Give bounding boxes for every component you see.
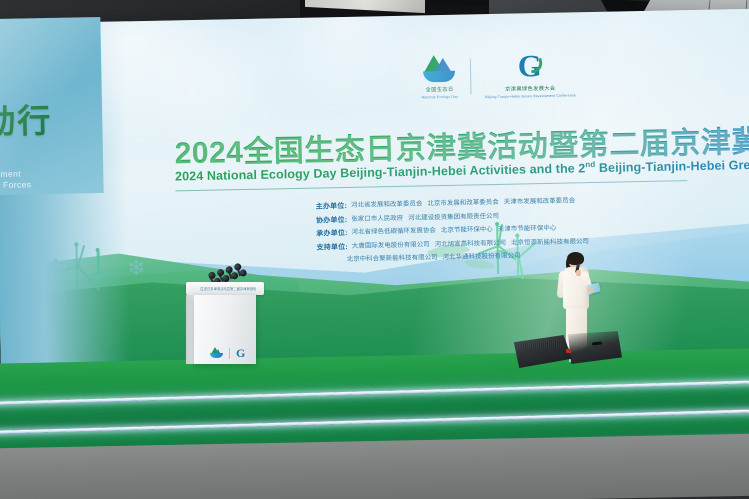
left-side-banner: 动行 …opment …ve Forces xyxy=(0,17,104,195)
lectern-nameplate: 2024全国生态日京津冀活动暨第二届京津冀绿色发展大会 xyxy=(200,285,256,291)
microphone-icon xyxy=(239,269,247,277)
sponsor-label: 承办单位: xyxy=(316,228,348,239)
sponsor-org: 大唐国际发电股份有限公司 xyxy=(352,241,430,250)
sponsor-org: 北京市发展和改革委员会 xyxy=(427,199,499,207)
snowflake-icon: ❄ xyxy=(127,257,146,279)
sponsor-org: 河北省发展和改革委员会 xyxy=(351,200,423,208)
title-en-ordinal: nd xyxy=(585,160,595,169)
sponsor-orgs: 北京中科合聚新能科技有限公司河北华通科技股份有限公司 xyxy=(347,252,526,265)
sponsor-orgs: 张家口市人民政府河北建设投资集团有限责任公司 xyxy=(351,211,504,223)
sponsor-org: 河北建设投资集团有限责任公司 xyxy=(408,212,499,221)
sponsor-org: 天津市节能环保中心 xyxy=(498,225,557,233)
logo-en-text: Beijing-Tianjin-Hebei Green Development … xyxy=(485,93,576,99)
logo-divider xyxy=(470,58,472,94)
sponsor-org: 河北华通科技股份有限公司 xyxy=(443,253,521,262)
btg-green-development-logo: G 京津冀绿色发展大会 Beijing-Tianjin-Hebei Green … xyxy=(484,50,576,99)
backdrop-logo-row: 全国生态日 National Ecology Day G 京津冀绿色发展大会 B… xyxy=(421,50,576,100)
host-hair xyxy=(567,252,584,265)
logo-en-text: National Ecology Day xyxy=(422,95,458,100)
sponsor-org: 天津市发展和改革委员会 xyxy=(504,197,576,205)
lectern: 2024全国生态日京津冀活动暨第二届京津冀绿色发展大会 G xyxy=(186,268,264,364)
sponsor-label: 主办单位: xyxy=(316,201,348,212)
sponsor-org: 河北旭宣高科技有限公司 xyxy=(435,240,507,248)
sponsor-label: 协办单位: xyxy=(316,215,348,226)
sponsor-org: 北京节能环保中心 xyxy=(441,226,493,234)
sponsor-orgs: 河北省发展和改革委员会北京市发展和改革委员会天津市发展和改革委员会 xyxy=(351,196,580,210)
letter-g-icon: G xyxy=(236,347,245,359)
letter-g-icon: G xyxy=(514,51,547,84)
host-hand xyxy=(576,270,581,276)
sponsor-orgs: 河北省绿色低碳循环发展协会北京节能环保中心天津市节能环保中心 xyxy=(352,224,562,237)
national-ecology-day-logo: 全国生态日 National Ecology Day xyxy=(421,54,458,100)
logo-cn-text: 全国生态日 xyxy=(426,86,454,94)
lectern-front-panel: G xyxy=(194,295,256,364)
mountain-water-icon xyxy=(422,54,457,85)
microphone-icon xyxy=(230,272,238,280)
sponsor-label: 支持单位: xyxy=(316,242,348,253)
lectern-logo-group: G xyxy=(210,345,256,361)
sponsor-org: 北京中科合聚新能科技有限公司 xyxy=(347,255,438,264)
sponsor-org: 张家口市人民政府 xyxy=(351,214,403,222)
conference-stage-photo: ❄ ❄ 全国生态日 National Ecology Day G 京津冀绿色发展… xyxy=(0,0,749,499)
logo-cn-text: 京津冀绿色发展大会 xyxy=(505,85,555,93)
side-banner-sheen xyxy=(0,17,104,195)
sponsor-orgs: 大唐国际发电股份有限公司河北旭宣高科技有限公司北京恒源新能科技有限公司 xyxy=(352,237,594,251)
sponsor-org: 北京恒源新能科技有限公司 xyxy=(511,238,589,247)
mountain-water-icon xyxy=(210,347,223,360)
logo-divider xyxy=(229,348,230,359)
speaker-power-led xyxy=(566,349,571,353)
sponsor-org: 河北省绿色低碳循环发展协会 xyxy=(352,227,437,236)
stage-backdrop: ❄ ❄ 全国生态日 National Ecology Day G 京津冀绿色发展… xyxy=(0,9,749,364)
